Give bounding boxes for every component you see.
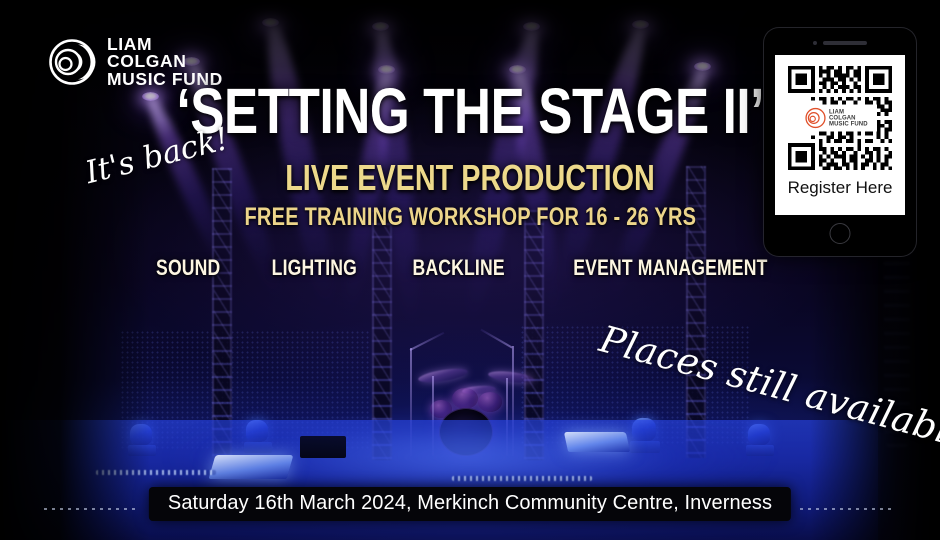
poster-subtitle-text: LIVE EVENT PRODUCTION (285, 157, 655, 199)
poster-eligibility-text: FREE TRAINING WORKSHOP FOR 16 - 26 YRS (244, 203, 696, 232)
floor-led-strip-right (452, 476, 592, 481)
qr-logo-mark-icon (805, 108, 826, 129)
register-here-label[interactable]: Register Here (788, 178, 893, 198)
stage-case-left (300, 436, 346, 458)
drum-tom-2 (478, 392, 502, 412)
stage-monitor-right (564, 432, 630, 452)
qr-logo-wordmark: LIAM COLGAN MUSIC FUND (829, 109, 868, 127)
speaker-grille-icon (823, 41, 867, 45)
qr-logo-line-3: MUSIC FUND (829, 121, 868, 127)
home-button-icon[interactable] (830, 223, 851, 244)
phone-notch (813, 41, 867, 45)
discipline-list: SOUND LIGHTING BACKLINE EVENT MANAGEMENT (0, 255, 940, 281)
floor-light-pool (90, 430, 850, 540)
camera-dot-icon (813, 41, 817, 45)
qr-code[interactable]: LIAM COLGAN MUSIC FUND (784, 62, 896, 174)
qr-registration-card[interactable]: LIAM COLGAN MUSIC FUND Register Here (775, 55, 905, 215)
discipline-lighting: LIGHTING (272, 255, 357, 281)
poster-title-text: ‘SETTING THE STAGE II’ (176, 74, 764, 148)
event-details-banner: Saturday 16th March 2024, Merkinch Commu… (149, 487, 791, 521)
event-details-text: Saturday 16th March 2024, Merkinch Commu… (168, 492, 772, 514)
drum-tom-1 (452, 388, 478, 409)
phone-mockup: LIAM COLGAN MUSIC FUND Register Here (764, 28, 916, 256)
event-poster: LIAM COLGAN MUSIC FUND ‘SETTING THE STAG… (0, 0, 940, 540)
footer-rule-left (44, 508, 140, 510)
discipline-sound: SOUND (156, 255, 220, 281)
discipline-event-management: EVENT MANAGEMENT (574, 255, 768, 281)
qr-embedded-logo: LIAM COLGAN MUSIC FUND (803, 105, 877, 132)
footer-rule-right (800, 508, 896, 510)
discipline-backline: BACKLINE (413, 255, 505, 281)
stage-monitor-left (209, 455, 294, 479)
